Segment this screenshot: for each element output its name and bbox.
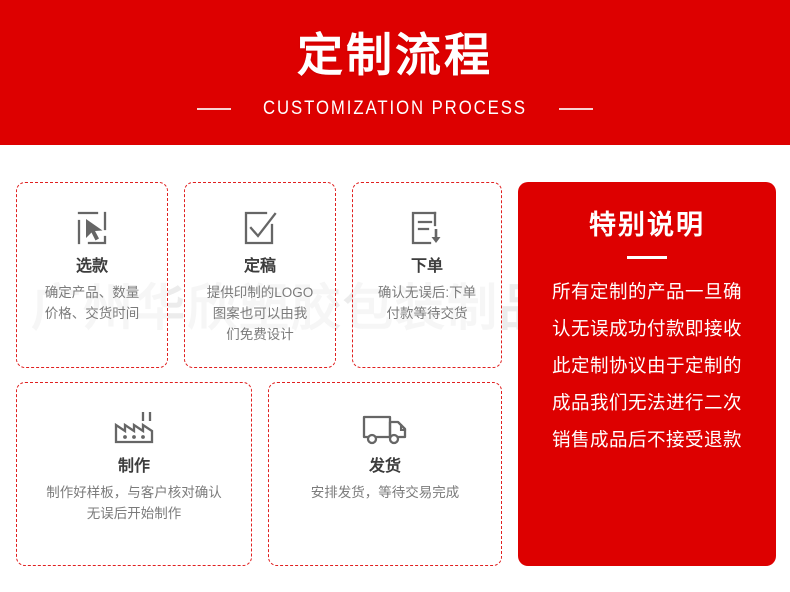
step-description: 提供印制的LOGO 图案也可以由我 们免费设计 bbox=[198, 283, 323, 346]
special-notice-panel: 特别说明 所有定制的产品一旦确 认无误成功付款即接收 此定制协议由于定制的 成品… bbox=[518, 182, 776, 566]
notice-divider bbox=[627, 256, 667, 259]
page-subtitle: CUSTOMIZATION PROCESS bbox=[251, 98, 540, 120]
process-step-card-xuankuan[interactable]: 选款 确定产品、数量 价格、交货时间 bbox=[16, 182, 168, 368]
step-title: 定稿 bbox=[244, 257, 276, 276]
factory-icon bbox=[110, 405, 158, 451]
banner-rule-right bbox=[559, 108, 593, 110]
step-description: 确认无误后:下单 付款等待交货 bbox=[369, 283, 485, 325]
process-step-card-dinggao[interactable]: 定稿 提供印制的LOGO 图案也可以由我 们免费设计 bbox=[184, 182, 336, 368]
notice-body-text: 所有定制的产品一旦确 认无误成功付款即接收 此定制协议由于定制的 成品我们无法进… bbox=[538, 273, 756, 458]
banner-subtitle-row: CUSTOMIZATION PROCESS bbox=[197, 98, 593, 120]
banner-rule-left bbox=[197, 108, 231, 110]
page-title: 定制流程 bbox=[297, 32, 493, 78]
step-description: 确定产品、数量 价格、交货时间 bbox=[36, 283, 149, 325]
process-step-card-zhizuo[interactable]: 制作 制作好样板，与客户核对确认 无误后开始制作 bbox=[16, 382, 252, 566]
delivery-truck-icon bbox=[360, 405, 410, 451]
process-step-grid: 选款 确定产品、数量 价格、交货时间 定稿 提供印制的LOGO 图案也可以由我 … bbox=[16, 182, 502, 566]
process-step-card-xiadan[interactable]: 下单 确认无误后:下单 付款等待交货 bbox=[352, 182, 502, 368]
cursor-select-icon bbox=[75, 205, 109, 251]
step-title: 选款 bbox=[76, 257, 108, 276]
notice-title: 特别说明 bbox=[589, 212, 705, 239]
process-step-card-fahuo[interactable]: 发货 安排发货，等待交易完成 bbox=[268, 382, 502, 566]
page-header-banner: 定制流程 CUSTOMIZATION PROCESS bbox=[0, 0, 790, 145]
step-title: 发货 bbox=[369, 457, 401, 476]
checkbox-check-icon bbox=[242, 205, 278, 251]
step-title: 制作 bbox=[118, 457, 150, 476]
document-download-icon bbox=[408, 205, 446, 251]
step-title: 下单 bbox=[411, 257, 443, 276]
step-description: 制作好样板，与客户核对确认 无误后开始制作 bbox=[38, 483, 230, 525]
step-description: 安排发货，等待交易完成 bbox=[303, 483, 468, 504]
